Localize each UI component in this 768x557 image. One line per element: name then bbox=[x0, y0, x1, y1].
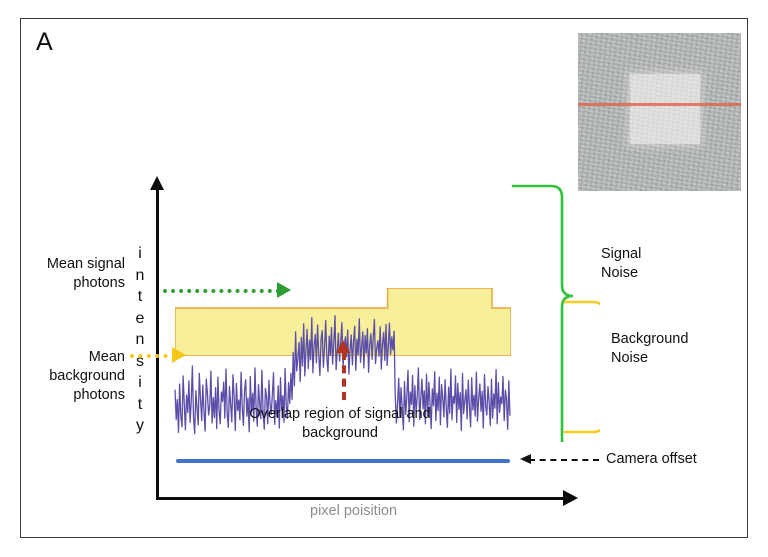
panel-label: A bbox=[36, 30, 53, 55]
y-axis-label-letter: t bbox=[129, 394, 151, 416]
y-axis-label-letter: t bbox=[129, 286, 151, 308]
mean-background-indicator-line bbox=[130, 354, 176, 358]
mean-signal-arrowhead-icon bbox=[277, 282, 291, 298]
inset-bright-square bbox=[630, 74, 700, 144]
camera-offset-line bbox=[176, 459, 510, 463]
label-line: Noise bbox=[611, 349, 688, 368]
overlap-region-arrowhead-icon bbox=[336, 340, 350, 353]
camera-offset-leader-line bbox=[529, 459, 599, 461]
overlap-region-arrow-line bbox=[342, 352, 346, 400]
mean-background-arrowhead-icon bbox=[172, 347, 186, 363]
camera-offset-label: Camera offset bbox=[606, 451, 697, 467]
label-line: Background bbox=[611, 330, 688, 349]
y-axis-label-letter: i bbox=[129, 243, 151, 265]
y-axis-label-letter: i bbox=[129, 372, 151, 394]
y-axis-label-letter: n bbox=[129, 329, 151, 351]
mean-signal-indicator-line bbox=[163, 289, 280, 293]
y-axis-label-letter: n bbox=[129, 265, 151, 287]
background-noise-label: BackgroundNoise bbox=[611, 330, 688, 368]
overlap-region-label: Overlap region of signal and background bbox=[225, 405, 455, 443]
label-line: Signal bbox=[601, 245, 641, 264]
signal-noise-brace-icon bbox=[513, 186, 573, 442]
x-axis-label: pixel poisition bbox=[310, 503, 397, 519]
noise-braces bbox=[505, 172, 600, 442]
mean-background-photons-label: Mean background photons bbox=[15, 348, 125, 405]
signal-noise-label: SignalNoise bbox=[601, 245, 641, 283]
inset-scanline bbox=[578, 103, 741, 106]
y-axis-label: intensity bbox=[129, 243, 151, 437]
y-axis-label-letter: e bbox=[129, 308, 151, 330]
y-axis-label-letter: y bbox=[129, 415, 151, 437]
background-noise-brace-icon bbox=[565, 302, 600, 432]
camera-offset-arrowhead-icon bbox=[520, 454, 531, 464]
inset-microscopy-image bbox=[578, 33, 741, 191]
mean-signal-photons-label: Mean signal photons bbox=[15, 255, 125, 293]
label-line: Noise bbox=[601, 264, 641, 283]
